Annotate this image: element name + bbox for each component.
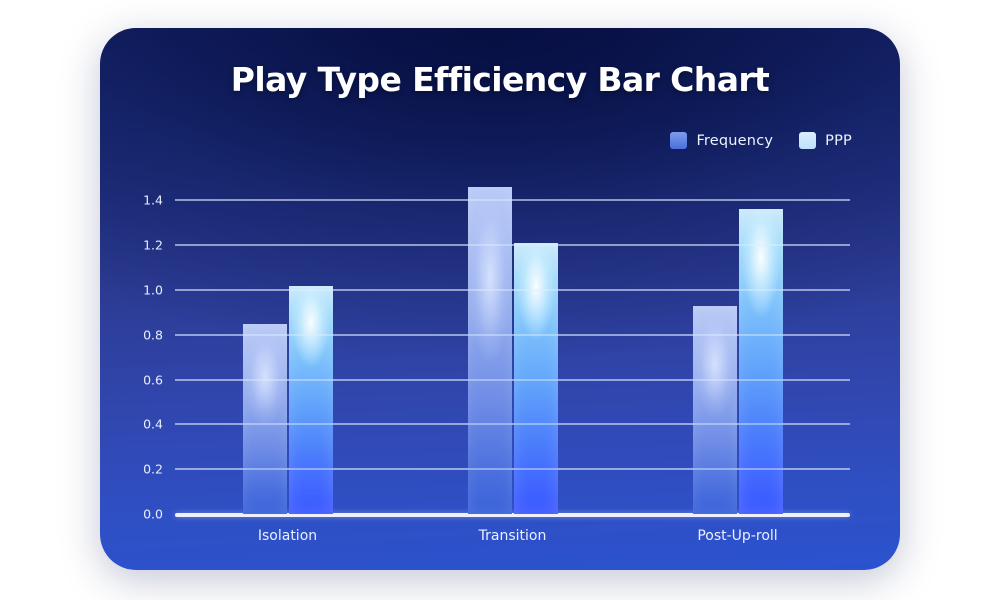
chart-title: Play Type Efficiency Bar Chart: [100, 60, 900, 99]
legend-item-ppp[interactable]: PPP: [799, 132, 852, 149]
y-axis-tick-label: 1.0: [143, 283, 163, 298]
legend-swatch-ppp: [799, 132, 816, 149]
chart-card: Play Type Efficiency Bar Chart Frequency…: [100, 28, 900, 570]
legend-label-ppp: PPP: [825, 133, 852, 149]
y-axis-tick-label: 1.2: [143, 238, 163, 253]
gridline-overlay: [175, 199, 850, 201]
x-axis-label-post-up-roll: Post-Up-roll: [697, 528, 777, 544]
gridline-overlay: [175, 334, 850, 336]
y-axis-tick-label: 1.4: [143, 193, 163, 208]
chart-screenshot: Play Type Efficiency Bar Chart Frequency…: [0, 0, 1000, 600]
legend-label-frequency: Frequency: [696, 133, 773, 149]
y-axis-tick-label: 0.0: [143, 507, 163, 522]
x-axis-label-transition: Transition: [479, 528, 547, 544]
legend-item-frequency[interactable]: Frequency: [670, 132, 773, 149]
plot-area: 0.00.20.40.60.81.01.21.4 IsolationTransi…: [175, 178, 850, 514]
x-axis-label-isolation: Isolation: [258, 528, 317, 544]
y-axis-tick-label: 0.8: [143, 327, 163, 342]
gridline-overlay: [175, 244, 850, 246]
bar-frequency-isolation[interactable]: [243, 324, 287, 514]
y-axis-tick-label: 0.4: [143, 417, 163, 432]
gridline-overlay: [175, 289, 850, 291]
gridline-overlay: [175, 423, 850, 425]
chart-legend: Frequency PPP: [670, 132, 852, 149]
gridline-overlay: [175, 379, 850, 381]
legend-swatch-frequency: [670, 132, 687, 149]
bar-frequency-post-up-roll[interactable]: [693, 306, 737, 514]
gridline-overlay: [175, 468, 850, 470]
bar-frequency-transition[interactable]: [468, 187, 512, 514]
y-axis-tick-label: 0.6: [143, 372, 163, 387]
y-axis-tick-label: 0.2: [143, 462, 163, 477]
bar-ppp-isolation[interactable]: [289, 286, 333, 514]
